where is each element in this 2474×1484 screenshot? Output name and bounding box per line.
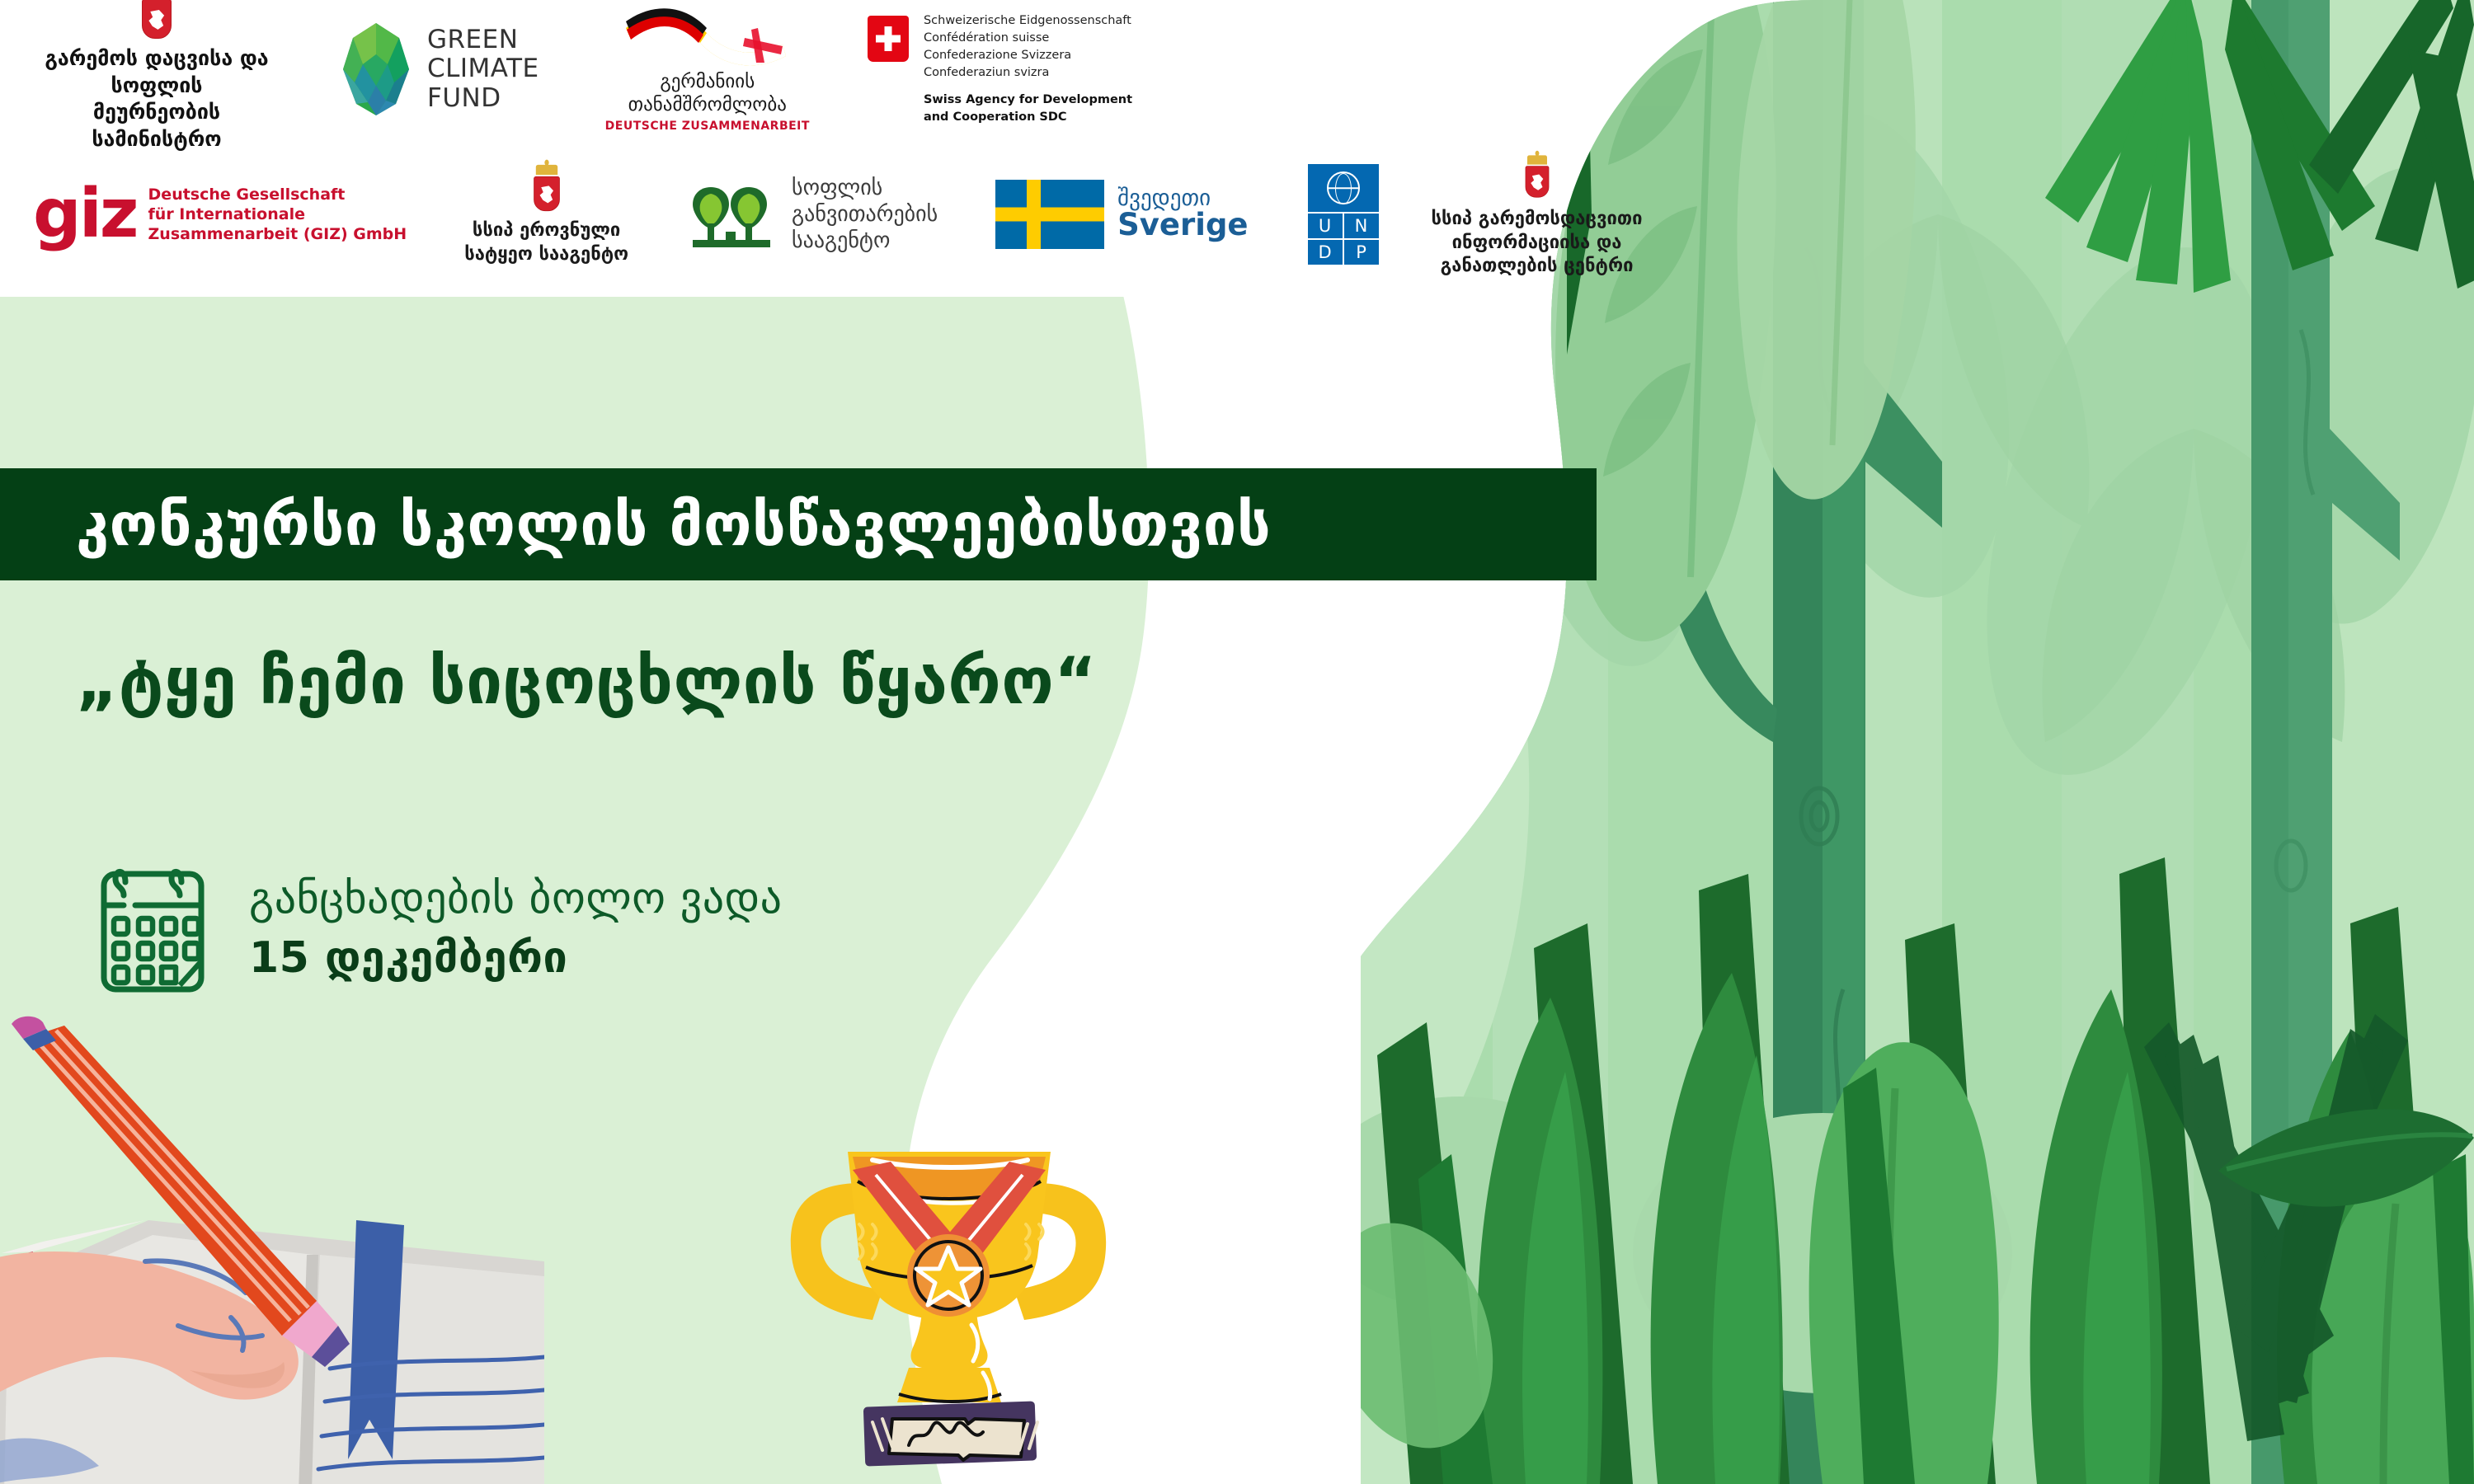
deadline-block: განცხადების ბოლო ვადა 15 დეკემბერი: [99, 857, 783, 993]
nfa-line-1: სსიპ ეროვნული: [464, 219, 628, 243]
un-globe-icon: [1308, 164, 1379, 212]
poster-canvas: გარემოს დაცვისა და სოფლის მეურნეობის სამ…: [0, 0, 2474, 1484]
rda-line-1: სოფლის: [792, 175, 938, 201]
page-title: კონკურსი სკოლის მოსწავლეებისთვის: [0, 490, 1271, 559]
german-coop-label: გერმანიის თანამშრომლობა DEUTSCHE ZUSAMME…: [605, 71, 810, 134]
sweden-label-sv: Sverige: [1117, 209, 1248, 242]
swiss-line-4: Confederaziun svizra: [924, 64, 1132, 82]
eic-line-2: ინფორმაციისა და: [1432, 232, 1643, 256]
gcf-gem-icon: [338, 21, 414, 117]
logo-rural-development-agency: სოფლის განვითარების სააგენტო: [686, 175, 938, 255]
logo-row-secondary: giz Deutsche Gesellschaft für Internatio…: [33, 157, 1643, 272]
swiss-agency-title: Swiss Agency for Development and Coopera…: [924, 92, 1132, 125]
swiss-bold-1: Swiss Agency for Development: [924, 92, 1132, 109]
sweden-label-ka: შვედეთი: [1117, 187, 1248, 209]
undp-letter-grid: U N D P: [1308, 214, 1379, 265]
gcf-line-1: GREEN: [427, 26, 539, 54]
gold-trophy-illustration: [767, 1134, 1130, 1484]
gcf-line-3: FUND: [427, 84, 539, 113]
sweden-flag-icon: [995, 180, 1104, 249]
swiss-line-3: Confederazione Svizzera: [924, 47, 1132, 64]
deadline-date: 15 დეკემბერი: [249, 932, 783, 984]
giz-line-2: für Internationale: [148, 204, 407, 224]
gcf-line-2: CLIMATE: [427, 54, 539, 83]
hand-writing-in-notebook-illustration: [0, 1014, 544, 1484]
deadline-label: განცხადების ბოლო ვადა: [249, 874, 783, 924]
georgia-coat-of-arms-small-icon: [534, 165, 560, 211]
logo-national-forestry-agency: სსიპ ეროვნული სატყეო სააგენტო: [464, 162, 628, 266]
headline-banner: კონკურსი სკოლის მოსწავლეებისთვის: [0, 468, 1597, 580]
undp-letter-p: P: [1344, 240, 1379, 265]
eic-line-1: სსიპ გარემოსდაცვითი: [1432, 208, 1643, 232]
rda-line-2: განვითარების: [792, 201, 938, 228]
swiss-line-2: Confédération suisse: [924, 30, 1132, 47]
logo-german-cooperation: გერმანიის თანამშრომლობა DEUTSCHE ZUSAMME…: [605, 5, 810, 134]
logo-environmental-information-centre: სსიპ გარემოსდაცვითი ინფორმაციისა და განა…: [1432, 150, 1643, 279]
logo-sweden: შვედეთი Sverige: [995, 180, 1248, 249]
swiss-names: Schweizerische Eidgenossenschaft Confédé…: [924, 12, 1132, 82]
de-line-2: თანამშრომლობა: [605, 94, 810, 117]
calendar-icon: [99, 857, 206, 993]
gcf-label: GREEN CLIMATE FUND: [427, 26, 539, 113]
logo-ministry-of-environment: გარემოს დაცვისა და სოფლის მეურნეობის სამ…: [33, 0, 280, 153]
german-georgian-flag-ribbon-icon: [621, 5, 794, 69]
logo-row-primary: გარემოს დაცვისა და სოფლის მეურნეობის სამ…: [33, 3, 1132, 135]
rda-label: სოფლის განვითარების სააგენტო: [792, 175, 938, 255]
de-line-1: გერმანიის: [605, 71, 810, 94]
logo-giz: giz Deutsche Gesellschaft für Internatio…: [33, 185, 407, 245]
nfa-line-2: სატყეო სააგენტო: [464, 243, 628, 267]
swiss-cross-icon: [868, 16, 909, 62]
giz-line-3: Zusammenarbeit (GIZ) GmbH: [148, 224, 407, 244]
georgia-coat-of-arms-small-icon-2: [1525, 156, 1549, 198]
georgia-coat-of-arms-icon: [142, 0, 172, 39]
ministry-label-line1: გარემოს დაცვისა და სოფლის: [33, 45, 280, 99]
two-trees-house-icon: [686, 181, 777, 248]
de-sub: DEUTSCHE ZUSAMMENARBEIT: [605, 120, 810, 134]
eic-line-3: განათლების ცენტრი: [1432, 255, 1643, 279]
undp-letter-u: U: [1308, 214, 1343, 238]
giz-full-name: Deutsche Gesellschaft für Internationale…: [148, 185, 407, 245]
giz-line-1: Deutsche Gesellschaft: [148, 185, 407, 204]
swiss-line-1: Schweizerische Eidgenossenschaft: [924, 12, 1132, 30]
contest-theme-subtitle: „ტყე ჩემი სიცოცხლის წყარო“: [76, 645, 1097, 719]
logo-green-climate-fund: GREEN CLIMATE FUND: [338, 21, 539, 117]
giz-wordmark: giz: [33, 187, 137, 242]
rda-line-3: სააგენტო: [792, 228, 938, 254]
ministry-label-line2: მეურნეობის სამინისტრო: [33, 99, 280, 153]
undp-letter-d: D: [1308, 240, 1343, 265]
logo-undp: U N D P: [1308, 164, 1379, 265]
logo-swiss-sdc: Schweizerische Eidgenossenschaft Confédé…: [868, 12, 1132, 125]
swiss-bold-2: and Cooperation SDC: [924, 109, 1132, 126]
undp-letter-n: N: [1344, 214, 1379, 238]
